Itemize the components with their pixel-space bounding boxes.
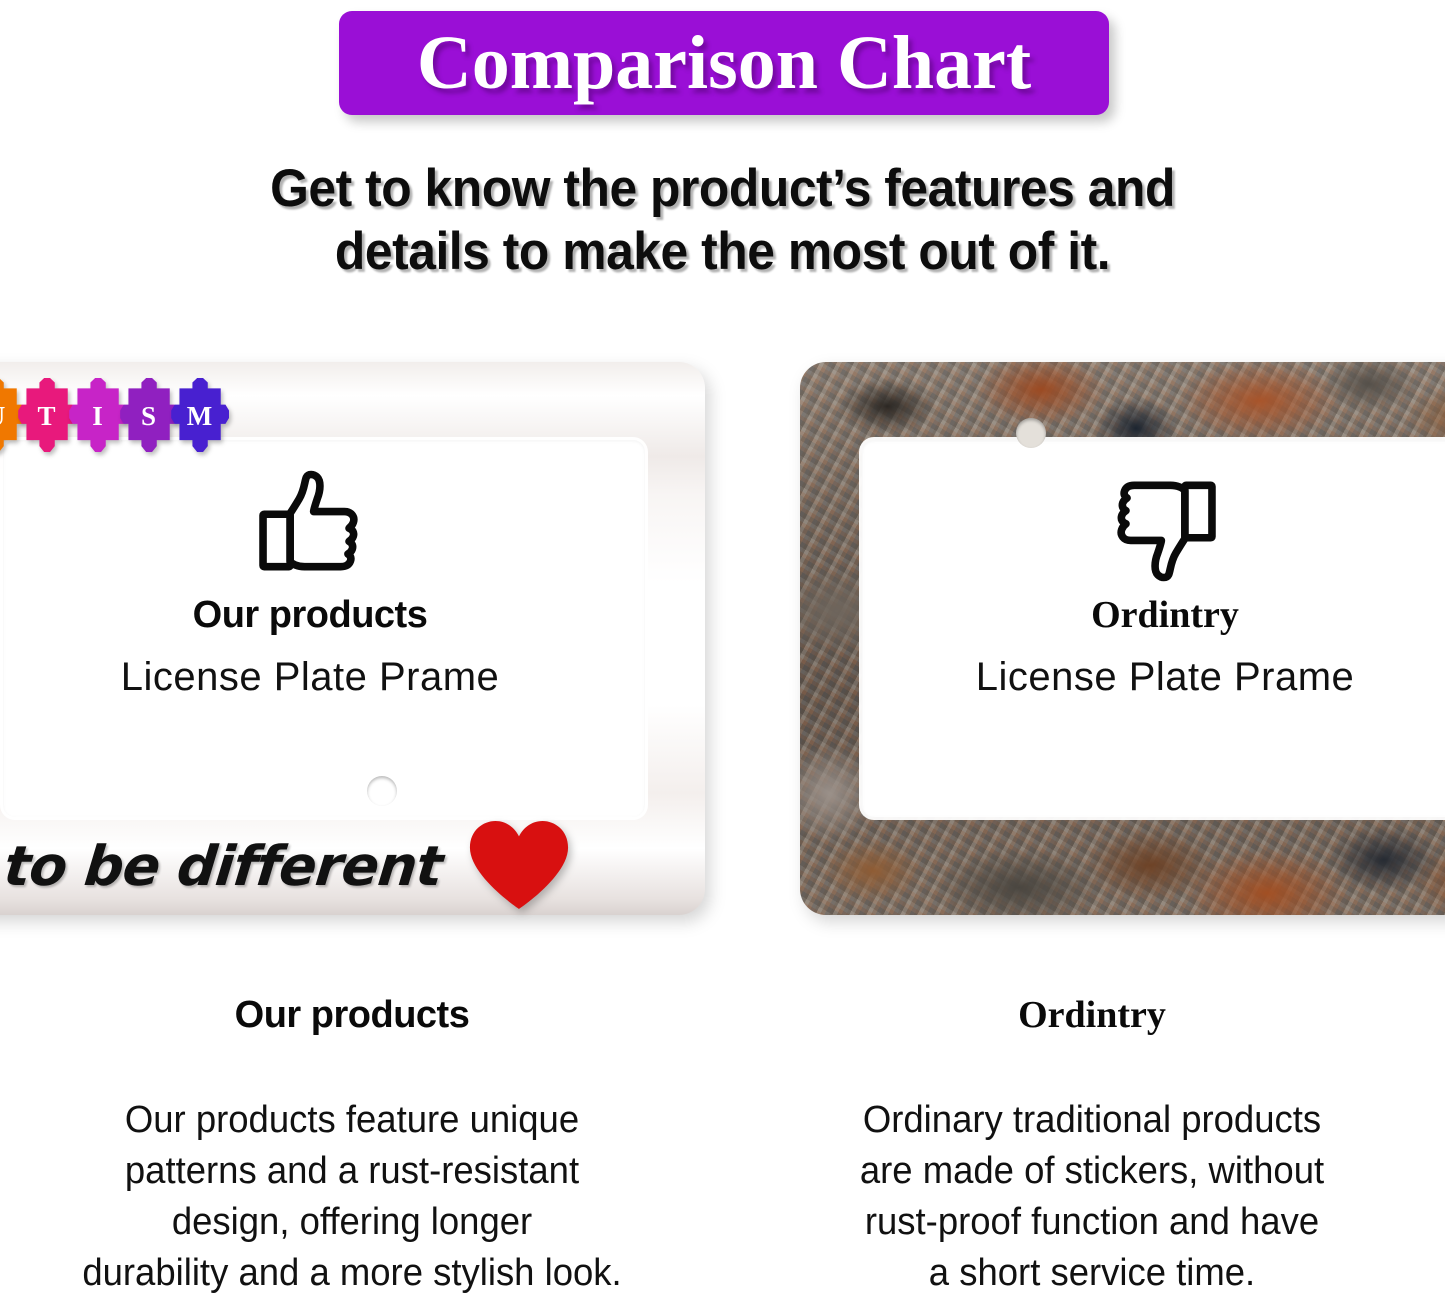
mounting-hole-left xyxy=(367,776,397,806)
puzzle-piece-m: M xyxy=(170,378,229,452)
desc-right-line-2: are made of stickers, without xyxy=(860,1150,1324,1192)
slogan-bar: ay to be different xyxy=(0,817,705,915)
desc-left-line-3: design, offering longer xyxy=(172,1201,532,1243)
heart-icon xyxy=(467,819,571,911)
product-panel-ordinary: Ordintry License Plate Prame xyxy=(800,362,1445,915)
product-subtitle-left: License Plate Prame xyxy=(0,656,705,698)
page-title-badge: Comparison Chart xyxy=(339,11,1109,115)
desc-left-line-2: patterns and a rust-resistant xyxy=(125,1150,579,1192)
description-column-ordinary: Ordintry Ordinary traditional products a… xyxy=(762,995,1422,1298)
desc-right-line-1: Ordinary traditional products xyxy=(863,1099,1321,1141)
desc-right-line-4: a short service time. xyxy=(929,1252,1255,1294)
slogan-text: ay to be different xyxy=(0,839,445,894)
puzzle-letter-m: M xyxy=(187,403,212,430)
window-content-left: Our products License Plate Prame xyxy=(0,470,705,698)
product-subtitle-right: License Plate Prame xyxy=(800,656,1445,698)
puzzle-letter-u: U xyxy=(0,403,5,430)
product-title-left: Our products xyxy=(0,596,705,636)
puzzle-letter-i: I xyxy=(92,403,103,430)
mounting-hole-right xyxy=(1016,418,1046,448)
window-content-right: Ordintry License Plate Prame xyxy=(800,470,1445,698)
page-title: Comparison Chart xyxy=(417,25,1031,101)
desc-left-line-4: durability and a more stylish look. xyxy=(82,1252,621,1294)
autism-puzzle-strip: A U T I S M xyxy=(0,378,221,456)
description-heading-left: Our products xyxy=(22,995,682,1037)
description-body-right: Ordinary traditional products are made o… xyxy=(775,1095,1409,1299)
puzzle-letter-t: T xyxy=(37,403,55,430)
thumbs-down-icon xyxy=(1107,470,1223,582)
thumbs-up-icon xyxy=(252,470,368,582)
desc-left-line-1: Our products feature unique xyxy=(125,1099,579,1141)
subtitle-line-2: details to make the most out of it. xyxy=(43,221,1401,284)
product-panel-ours: A U T I S M ay t xyxy=(0,362,705,915)
desc-right-line-3: rust-proof function and have xyxy=(865,1201,1319,1243)
description-column-ours: Our products Our products feature unique… xyxy=(22,995,682,1298)
description-body-left: Our products feature unique patterns and… xyxy=(35,1095,669,1299)
subtitle-line-1: Get to know the product’s features and xyxy=(43,158,1401,221)
comparison-chart-page: Comparison Chart Get to know the product… xyxy=(0,0,1445,1314)
description-heading-right: Ordintry xyxy=(762,995,1422,1037)
page-subtitle: Get to know the product’s features and d… xyxy=(43,158,1401,283)
product-title-right: Ordintry xyxy=(800,596,1445,636)
puzzle-letter-s: S xyxy=(141,403,156,430)
